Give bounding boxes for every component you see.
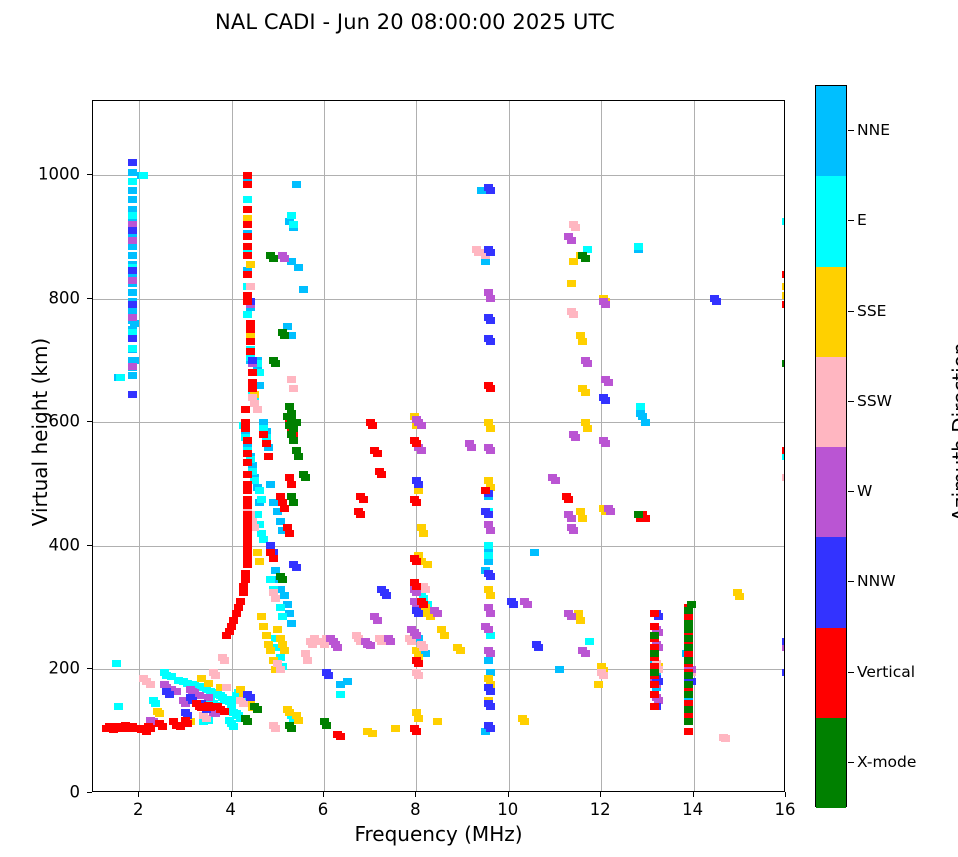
y-tick-mark (87, 174, 92, 175)
data-point (684, 691, 693, 698)
data-point (253, 706, 262, 713)
colorbar-segment-x-mode[interactable] (816, 718, 846, 808)
colorbar-segment-w[interactable] (816, 447, 846, 537)
colorbar-tick-label-nne: NNE (857, 121, 890, 139)
colorbar[interactable] (815, 85, 847, 807)
data-point (684, 672, 693, 679)
chart-title: NAL CADI - Jun 20 08:00:00 2025 UTC (0, 10, 830, 34)
x-tick-mark (323, 792, 324, 797)
x-tick-label: 10 (497, 800, 518, 819)
colorbar-segment-ssw[interactable] (816, 357, 846, 447)
data-point (301, 474, 310, 481)
x-tick-mark (138, 792, 139, 797)
colorbar-label: Azimuth Direction (948, 262, 958, 602)
data-point (650, 650, 659, 657)
colorbar-tick-mark (848, 672, 854, 673)
data-point (271, 360, 280, 367)
data-point (684, 607, 693, 614)
y-tick-label: 0 (0, 783, 80, 802)
colorbar-tick-mark (848, 762, 854, 763)
x-tick-mark (508, 792, 509, 797)
data-point (287, 725, 296, 732)
colorbar-tick-mark (848, 220, 854, 221)
colorbar-tick-label-nnw: NNW (857, 572, 896, 590)
colorbar-tick-label-e: E (857, 211, 867, 229)
series-x-mode (93, 101, 784, 791)
data-point (322, 722, 331, 729)
y-tick-label: 200 (0, 659, 80, 678)
colorbar-segment-e[interactable] (816, 176, 846, 266)
data-point (581, 255, 590, 262)
colorbar-tick-label-ssw: SSW (857, 392, 892, 410)
colorbar-tick-label-w: W (857, 482, 872, 500)
x-tick-mark (785, 792, 786, 797)
data-point (280, 332, 289, 339)
data-point (650, 632, 659, 639)
y-tick-mark (87, 421, 92, 422)
data-point (634, 511, 643, 518)
figure-canvas: NAL CADI - Jun 20 08:00:00 2025 UTC 2468… (0, 0, 958, 857)
data-point (684, 706, 693, 713)
data-point (684, 644, 693, 651)
data-point (243, 718, 252, 725)
x-tick-mark (693, 792, 694, 797)
y-tick-mark (87, 668, 92, 669)
data-point (289, 437, 298, 444)
plot-area (92, 100, 785, 792)
x-tick-label: 4 (225, 800, 236, 819)
colorbar-segment-nnw[interactable] (816, 537, 846, 627)
data-point (269, 255, 278, 262)
x-tick-mark (415, 792, 416, 797)
colorbar-segment-nne[interactable] (816, 86, 846, 176)
colorbar-tick-mark (848, 581, 854, 582)
y-tick-mark (87, 545, 92, 546)
data-point (684, 657, 693, 664)
x-tick-label: 14 (682, 800, 703, 819)
data-point (650, 669, 659, 676)
x-axis-label: Frequency (MHz) (92, 822, 785, 846)
colorbar-tick-label-sse: SSE (857, 302, 886, 320)
y-tick-mark (87, 792, 92, 793)
data-point (283, 413, 292, 420)
x-tick-label: 8 (410, 800, 421, 819)
x-tick-mark (231, 792, 232, 797)
data-point (782, 360, 786, 367)
x-tick-label: 6 (318, 800, 329, 819)
colorbar-tick-label-vertical: Vertical (857, 663, 915, 681)
data-point (684, 681, 693, 688)
data-point (278, 576, 287, 583)
y-tick-mark (87, 298, 92, 299)
colorbar-tick-mark (848, 311, 854, 312)
data-point (684, 635, 693, 642)
data-point (684, 718, 693, 725)
y-axis-label: Virtual height (km) (28, 232, 52, 632)
colorbar-tick-mark (848, 401, 854, 402)
colorbar-tick-label-x-mode: X-mode (857, 753, 916, 771)
colorbar-tick-mark (848, 130, 854, 131)
data-point (289, 499, 298, 506)
colorbar-segment-vertical[interactable] (816, 628, 846, 718)
colorbar-tick-mark (848, 491, 854, 492)
colorbar-segment-sse[interactable] (816, 267, 846, 357)
x-tick-mark (600, 792, 601, 797)
data-point (687, 601, 696, 608)
data-point (294, 453, 303, 460)
y-tick-label: 1000 (0, 165, 80, 184)
x-tick-label: 2 (133, 800, 144, 819)
x-tick-label: 16 (775, 800, 796, 819)
x-tick-label: 12 (590, 800, 611, 819)
data-point (684, 626, 693, 633)
data-point (285, 422, 294, 429)
